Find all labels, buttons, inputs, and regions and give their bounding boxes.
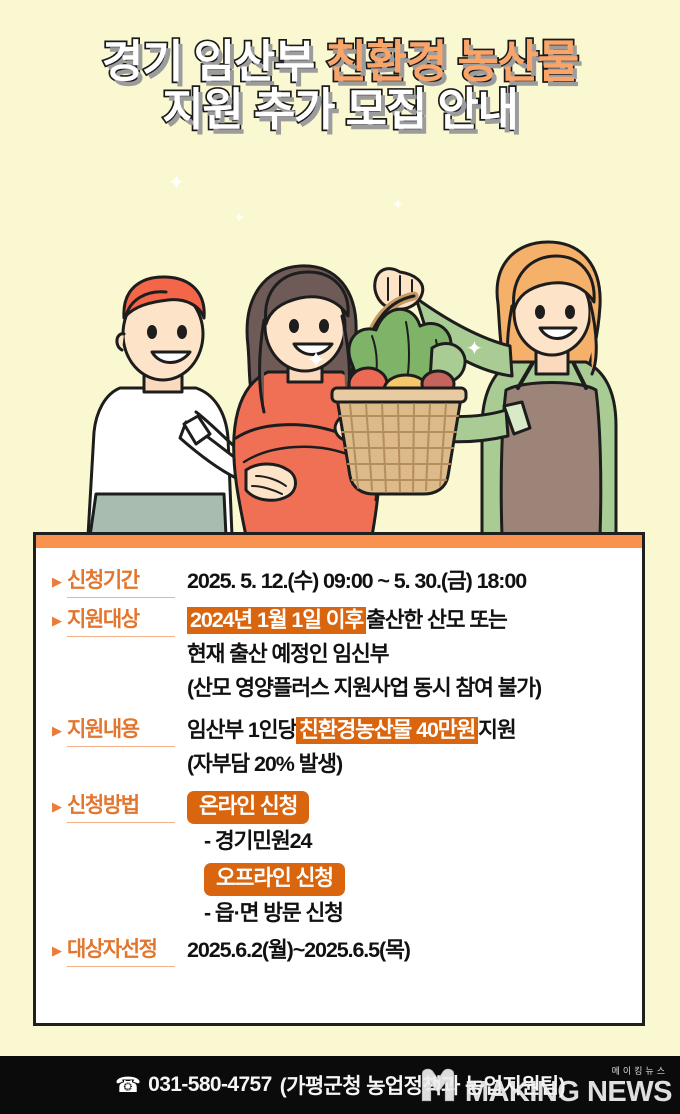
row-label-how-to-apply: 신청방법 [67,791,175,823]
online-application-detail: - 경기민원24 [204,826,628,857]
title-line-2: 지원 추가 모집 안내 [0,86,680,134]
info-row-eligibility: ▶ 지원대상 2024년 1월 1일 이후출산한 산모 또는 현재 출산 예정인… [52,605,628,703]
highlight-support-amount: 친환경농산물 40만원 [296,717,478,744]
sparkle-icon: ✦ [168,170,185,195]
row-value-support-content: 임산부 1인당친환경농산물 40만원지원 (자부담 20% 발생) [187,715,628,779]
badge-offline-application[interactable]: 오프라인 신청 [204,863,345,896]
offline-application-detail: - 읍·면 방문 신청 [204,898,628,929]
row-label-selection-period: 대상자선정 [67,935,175,967]
poster-title: 경기 임산부 친환경 농산물 지원 추가 모집 안내 [0,38,680,133]
bullet-triangle-icon: ▶ [52,791,67,822]
footer-contact-bar: ☎ 031-580-4757 (가평군청 농업정책과 농업지원팀) [0,1056,680,1114]
row-label-support-content: 지원내용 [67,715,175,747]
title-text-orange: 친환경 농산물 [326,36,579,87]
poster-root: 경기 임산부 친환경 농산물 지원 추가 모집 안내 [0,0,680,1114]
row-value-application-period: 2025. 5. 12.(수) 09:00 ~ 5. 30.(금) 18:00 [187,566,628,596]
info-row-application-period: ▶ 신청기간 2025. 5. 12.(수) 09:00 ~ 5. 30.(금)… [52,566,628,598]
bullet-triangle-icon: ▶ [52,605,67,636]
bullet-triangle-icon: ▶ [52,935,67,966]
eligibility-after-text: 출산한 산모 또는 [366,608,507,632]
support-before-text: 임산부 1인당 [187,718,296,742]
footer-phone-number: 031-580-4757 [148,1073,272,1097]
highlight-eligibility-date: 2024년 1월 1일 이후 [187,607,366,634]
row-value-how-to-apply: 온라인 신청 [187,791,628,824]
title-text-line2: 지원 추가 모집 안내 [162,84,518,135]
row-label-eligibility: 지원대상 [67,605,175,637]
info-row-how-to-apply: ▶ 신청방법 온라인 신청 [52,791,628,824]
offline-badge-wrapper: 오프라인 신청 [204,863,628,896]
badge-online-application[interactable]: 온라인 신청 [187,791,309,824]
sparkle-icon: ✦ [306,346,326,375]
eligibility-sub-line-2: (산모 영양플러스 지원사업 동시 참여 불가) [187,673,628,703]
row-value-eligibility: 2024년 1월 1일 이후출산한 산모 또는 현재 출산 예정인 임신부 (산… [187,605,628,703]
title-text-white: 경기 임산부 [102,36,314,87]
row-value-selection-period: 2025.6.2(월)~2025.6.5(목) [187,935,628,965]
sparkle-icon: ✦ [392,196,404,213]
illustration-family-with-basket: ✦ ✦ ✦ ✦ ✦ [0,176,680,536]
panel-body: ▶ 신청기간 2025. 5. 12.(수) 09:00 ~ 5. 30.(금)… [36,548,642,967]
bullet-triangle-icon: ▶ [52,715,67,746]
panel-top-bar [36,535,642,548]
telephone-icon: ☎ [115,1073,141,1098]
sparkle-icon: ✦ [234,210,245,226]
info-panel: ▶ 신청기간 2025. 5. 12.(수) 09:00 ~ 5. 30.(금)… [33,532,645,1026]
row-label-application-period: 신청기간 [67,566,175,598]
bullet-triangle-icon: ▶ [52,566,67,597]
info-row-selection-period: ▶ 대상자선정 2025.6.2(월)~2025.6.5(목) [52,935,628,967]
eligibility-sub-line-1: 현재 출산 예정인 임신부 [187,639,628,669]
footer-department: (가평군청 농업정책과 농업지원팀) [280,1070,565,1100]
sparkle-icon: ✦ [466,336,483,361]
support-sub-line-1: (자부담 20% 발생) [187,749,628,779]
title-line-1: 경기 임산부 친환경 농산물 [0,38,680,86]
support-after-text: 지원 [478,718,515,742]
info-row-support-content: ▶ 지원내용 임산부 1인당친환경농산물 40만원지원 (자부담 20% 발생) [52,715,628,779]
